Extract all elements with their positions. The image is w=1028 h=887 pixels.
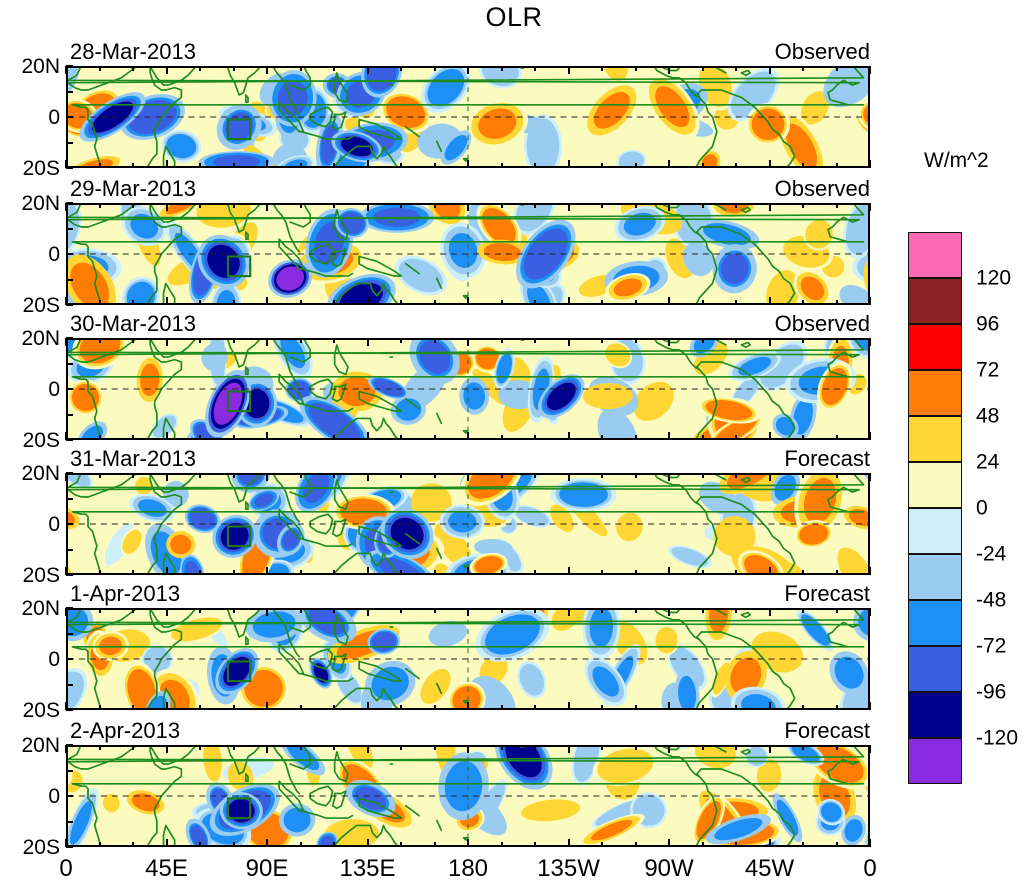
x-tick bbox=[300, 473, 302, 478]
x-tick bbox=[166, 839, 168, 847]
y-axis-label-2-1: 20N bbox=[2, 193, 60, 214]
x-tick bbox=[266, 66, 268, 74]
x-tick bbox=[668, 66, 670, 74]
map-panel-5[interactable] bbox=[66, 608, 870, 710]
y-tick bbox=[66, 439, 73, 441]
x-tick bbox=[635, 163, 637, 168]
x-tick bbox=[668, 203, 670, 211]
x-tick bbox=[635, 338, 637, 343]
x-tick bbox=[534, 338, 536, 343]
olr-anomaly-map bbox=[68, 747, 868, 845]
x-tick bbox=[99, 163, 101, 168]
x-tick bbox=[467, 203, 469, 211]
x-tick bbox=[802, 300, 804, 305]
x-tick bbox=[434, 473, 436, 478]
x-tick bbox=[467, 297, 469, 305]
x-tick bbox=[199, 66, 201, 71]
x-tick bbox=[769, 66, 771, 74]
x-tick bbox=[467, 66, 469, 74]
x-tick bbox=[836, 570, 838, 575]
x-tick bbox=[266, 702, 268, 710]
x-tick bbox=[166, 473, 168, 481]
x-tick bbox=[132, 473, 134, 478]
panel-date-label-6: 2-Apr-2013 bbox=[70, 720, 180, 742]
x-tick bbox=[132, 435, 134, 440]
y-tick bbox=[66, 337, 73, 339]
y-tick bbox=[66, 304, 73, 306]
x-tick bbox=[601, 745, 603, 750]
y-tick bbox=[66, 228, 73, 230]
x-tick bbox=[601, 300, 603, 305]
x-tick bbox=[601, 435, 603, 440]
map-panel-3[interactable] bbox=[66, 338, 870, 440]
x-tick bbox=[266, 432, 268, 440]
x-tick bbox=[132, 705, 134, 710]
x-tick bbox=[434, 570, 436, 575]
x-tick bbox=[367, 203, 369, 211]
x-tick bbox=[534, 570, 536, 575]
y-tick bbox=[66, 65, 73, 67]
x-tick bbox=[702, 842, 704, 847]
x-tick bbox=[166, 567, 168, 575]
olr-figure: OLR 045E90E135E180135W90W45W0 W/m^2 1209… bbox=[0, 0, 1028, 887]
x-axis-label-4: 135E bbox=[339, 856, 395, 882]
x-tick bbox=[266, 160, 268, 168]
panel-date-label-3: 30-Mar-2013 bbox=[70, 313, 196, 335]
x-tick bbox=[199, 338, 201, 343]
x-tick bbox=[869, 432, 871, 440]
y-axis-label-4-3: 20S bbox=[2, 565, 60, 586]
x-tick bbox=[166, 338, 168, 346]
x-tick bbox=[467, 839, 469, 847]
x-tick bbox=[333, 705, 335, 710]
x-tick bbox=[400, 203, 402, 208]
colorbar[interactable] bbox=[908, 232, 962, 784]
x-tick bbox=[132, 338, 134, 343]
x-tick bbox=[434, 163, 436, 168]
colorbar-band-9 bbox=[908, 600, 962, 646]
x-tick bbox=[769, 297, 771, 305]
x-tick bbox=[434, 705, 436, 710]
x-tick bbox=[568, 338, 570, 346]
olr-anomaly-map bbox=[68, 610, 868, 708]
x-tick bbox=[333, 300, 335, 305]
panel-status-label-3: Observed bbox=[775, 313, 870, 335]
x-tick bbox=[99, 705, 101, 710]
x-tick bbox=[802, 435, 804, 440]
panel-status-label-5: Forecast bbox=[784, 583, 870, 605]
x-tick bbox=[434, 842, 436, 847]
panel-frame bbox=[66, 66, 870, 168]
x-tick bbox=[501, 570, 503, 575]
x-tick bbox=[333, 473, 335, 478]
colorbar-band-11 bbox=[908, 692, 962, 738]
olr-anomaly-map bbox=[68, 475, 868, 573]
colorbar-band-10 bbox=[908, 646, 962, 692]
x-tick bbox=[199, 203, 201, 208]
x-tick bbox=[869, 745, 871, 753]
x-tick bbox=[99, 203, 101, 208]
x-tick bbox=[233, 608, 235, 613]
x-tick bbox=[367, 160, 369, 168]
x-tick bbox=[400, 300, 402, 305]
x-tick bbox=[333, 842, 335, 847]
x-tick bbox=[668, 567, 670, 575]
y-axis-label-3-3: 20S bbox=[2, 430, 60, 451]
y-axis-label-1-2: 0 bbox=[2, 107, 60, 128]
x-axis-label-6: 135W bbox=[537, 856, 600, 882]
x-tick bbox=[199, 570, 201, 575]
x-tick bbox=[300, 338, 302, 343]
x-tick bbox=[802, 66, 804, 71]
x-tick bbox=[300, 203, 302, 208]
x-tick bbox=[400, 163, 402, 168]
x-tick bbox=[233, 842, 235, 847]
x-tick bbox=[568, 66, 570, 74]
y-axis-label-5-2: 0 bbox=[2, 649, 60, 670]
x-tick bbox=[769, 473, 771, 481]
x-tick bbox=[434, 203, 436, 208]
map-panel-4[interactable] bbox=[66, 473, 870, 575]
x-tick bbox=[836, 473, 838, 478]
x-tick bbox=[501, 608, 503, 613]
x-tick bbox=[702, 435, 704, 440]
y-tick bbox=[66, 658, 73, 660]
colorbar-band-4 bbox=[908, 370, 962, 416]
panel-frame bbox=[66, 608, 870, 710]
y-tick bbox=[66, 523, 73, 525]
x-tick bbox=[869, 66, 871, 74]
panel-date-label-1: 28-Mar-2013 bbox=[70, 41, 196, 63]
x-tick bbox=[434, 745, 436, 750]
panel-frame bbox=[66, 745, 870, 847]
x-tick bbox=[166, 702, 168, 710]
x-tick bbox=[601, 473, 603, 478]
y-axis-label-1-1: 20N bbox=[2, 56, 60, 77]
x-tick bbox=[702, 300, 704, 305]
x-tick bbox=[132, 203, 134, 208]
panel-frame bbox=[66, 203, 870, 305]
x-tick bbox=[702, 705, 704, 710]
x-tick bbox=[333, 66, 335, 71]
x-tick bbox=[333, 608, 335, 613]
x-tick bbox=[266, 839, 268, 847]
x-tick bbox=[300, 570, 302, 575]
x-tick bbox=[400, 66, 402, 71]
y-axis-label-3-1: 20N bbox=[2, 328, 60, 349]
x-tick bbox=[568, 432, 570, 440]
x-tick bbox=[199, 842, 201, 847]
x-tick bbox=[534, 745, 536, 750]
x-tick bbox=[266, 608, 268, 616]
x-tick bbox=[333, 745, 335, 750]
x-tick bbox=[467, 745, 469, 753]
y-axis-label-6-2: 0 bbox=[2, 786, 60, 807]
y-axis-label-2-3: 20S bbox=[2, 295, 60, 316]
x-tick bbox=[501, 705, 503, 710]
colorbar-band-6 bbox=[908, 462, 962, 508]
colorbar-tick-1: 120 bbox=[976, 268, 1011, 289]
colorbar-band-7 bbox=[908, 508, 962, 554]
x-tick bbox=[869, 338, 871, 346]
x-tick bbox=[99, 608, 101, 613]
x-tick bbox=[367, 432, 369, 440]
x-tick bbox=[802, 608, 804, 613]
x-tick bbox=[400, 473, 402, 478]
x-tick bbox=[836, 300, 838, 305]
x-tick bbox=[568, 745, 570, 753]
colorbar-tick-3: 72 bbox=[976, 360, 999, 381]
x-tick bbox=[467, 473, 469, 481]
x-tick bbox=[601, 570, 603, 575]
colorbar-tick-8: -48 bbox=[976, 590, 1006, 611]
y-tick bbox=[66, 279, 73, 281]
x-tick bbox=[333, 203, 335, 208]
x-tick bbox=[199, 435, 201, 440]
y-tick bbox=[66, 744, 73, 746]
x-tick bbox=[601, 203, 603, 208]
x-tick bbox=[233, 300, 235, 305]
y-tick bbox=[66, 116, 73, 118]
y-tick bbox=[66, 633, 73, 635]
x-axis-label-5: 180 bbox=[448, 856, 488, 882]
x-tick bbox=[132, 745, 134, 750]
x-tick bbox=[333, 338, 335, 343]
x-tick bbox=[333, 435, 335, 440]
x-tick bbox=[735, 338, 737, 343]
x-tick bbox=[501, 745, 503, 750]
y-axis-label-5-1: 20N bbox=[2, 598, 60, 619]
x-tick bbox=[802, 705, 804, 710]
y-tick bbox=[66, 821, 73, 823]
x-tick bbox=[769, 702, 771, 710]
x-tick bbox=[467, 608, 469, 616]
x-tick bbox=[266, 338, 268, 346]
panel-date-label-5: 1-Apr-2013 bbox=[70, 583, 180, 605]
x-tick bbox=[534, 473, 536, 478]
x-tick bbox=[367, 297, 369, 305]
x-tick bbox=[568, 608, 570, 616]
x-tick bbox=[132, 608, 134, 613]
x-tick bbox=[668, 432, 670, 440]
x-tick bbox=[467, 567, 469, 575]
panel-date-label-4: 31-Mar-2013 bbox=[70, 448, 196, 470]
x-tick bbox=[300, 608, 302, 613]
x-tick bbox=[300, 163, 302, 168]
x-tick bbox=[836, 66, 838, 71]
x-tick bbox=[601, 66, 603, 71]
x-tick bbox=[735, 745, 737, 750]
x-tick bbox=[601, 163, 603, 168]
y-axis-label-4-1: 20N bbox=[2, 463, 60, 484]
x-tick bbox=[266, 297, 268, 305]
colorbar-tick-6: 0 bbox=[976, 498, 988, 519]
x-tick bbox=[99, 338, 101, 343]
x-tick bbox=[668, 745, 670, 753]
x-tick bbox=[300, 435, 302, 440]
x-tick bbox=[869, 297, 871, 305]
x-tick bbox=[467, 338, 469, 346]
y-axis-label-2-2: 0 bbox=[2, 244, 60, 265]
x-tick bbox=[166, 432, 168, 440]
x-tick bbox=[836, 203, 838, 208]
x-tick bbox=[735, 163, 737, 168]
panel-frame bbox=[66, 338, 870, 440]
x-tick bbox=[501, 338, 503, 343]
x-tick bbox=[132, 66, 134, 71]
y-tick bbox=[66, 549, 73, 551]
x-tick bbox=[367, 702, 369, 710]
colorbar-tick-2: 96 bbox=[976, 314, 999, 335]
x-tick bbox=[266, 567, 268, 575]
x-tick bbox=[668, 338, 670, 346]
panel-status-label-4: Forecast bbox=[784, 448, 870, 470]
map-panel-2[interactable] bbox=[66, 203, 870, 305]
x-tick bbox=[501, 842, 503, 847]
x-tick bbox=[869, 567, 871, 575]
y-tick bbox=[66, 142, 73, 144]
x-tick bbox=[367, 473, 369, 481]
olr-anomaly-map bbox=[68, 205, 868, 303]
x-tick bbox=[166, 66, 168, 74]
panel-date-label-2: 29-Mar-2013 bbox=[70, 178, 196, 200]
x-tick bbox=[99, 745, 101, 750]
x-tick bbox=[233, 435, 235, 440]
colorbar-units-label: W/m^2 bbox=[924, 150, 989, 171]
x-tick bbox=[233, 473, 235, 478]
x-tick bbox=[400, 570, 402, 575]
x-tick bbox=[668, 608, 670, 616]
x-tick bbox=[635, 203, 637, 208]
x-tick bbox=[568, 473, 570, 481]
x-tick bbox=[702, 473, 704, 478]
x-tick bbox=[367, 567, 369, 575]
x-tick bbox=[501, 163, 503, 168]
x-tick bbox=[65, 66, 67, 74]
x-tick bbox=[534, 842, 536, 847]
x-tick bbox=[735, 608, 737, 613]
x-tick bbox=[501, 203, 503, 208]
x-tick bbox=[836, 608, 838, 613]
panel-frame bbox=[66, 473, 870, 575]
x-tick bbox=[635, 608, 637, 613]
x-tick bbox=[802, 842, 804, 847]
x-tick bbox=[99, 842, 101, 847]
x-tick bbox=[501, 66, 503, 71]
x-tick bbox=[869, 608, 871, 616]
x-tick bbox=[166, 745, 168, 753]
x-tick bbox=[802, 473, 804, 478]
x-tick bbox=[534, 705, 536, 710]
x-tick bbox=[702, 163, 704, 168]
x-tick bbox=[300, 300, 302, 305]
x-axis-label-3: 90E bbox=[246, 856, 289, 882]
y-tick bbox=[66, 388, 73, 390]
x-tick bbox=[266, 473, 268, 481]
x-tick bbox=[233, 705, 235, 710]
y-axis-label-6-3: 20S bbox=[2, 837, 60, 858]
x-tick bbox=[501, 473, 503, 478]
y-tick bbox=[66, 684, 73, 686]
x-tick bbox=[400, 705, 402, 710]
x-tick bbox=[802, 745, 804, 750]
x-tick bbox=[769, 338, 771, 346]
x-tick bbox=[635, 66, 637, 71]
panel-status-label-2: Observed bbox=[775, 178, 870, 200]
x-tick bbox=[635, 705, 637, 710]
x-tick bbox=[568, 839, 570, 847]
y-tick bbox=[66, 498, 73, 500]
x-axis-label-8: 45W bbox=[745, 856, 794, 882]
olr-anomaly-map bbox=[68, 68, 868, 166]
x-tick bbox=[635, 842, 637, 847]
x-tick bbox=[233, 338, 235, 343]
x-tick bbox=[501, 300, 503, 305]
x-tick bbox=[769, 432, 771, 440]
x-tick bbox=[735, 66, 737, 71]
x-tick bbox=[266, 745, 268, 753]
x-tick bbox=[836, 435, 838, 440]
x-tick bbox=[601, 608, 603, 613]
x-tick bbox=[735, 473, 737, 478]
y-axis-label-4-2: 0 bbox=[2, 514, 60, 535]
x-tick bbox=[467, 160, 469, 168]
y-axis-label-1-3: 20S bbox=[2, 158, 60, 179]
x-tick bbox=[735, 842, 737, 847]
x-tick bbox=[233, 745, 235, 750]
x-tick bbox=[702, 203, 704, 208]
x-tick bbox=[568, 297, 570, 305]
x-tick bbox=[300, 66, 302, 71]
y-axis-label-5-3: 20S bbox=[2, 700, 60, 721]
y-tick bbox=[66, 91, 73, 93]
x-tick bbox=[367, 66, 369, 74]
x-tick bbox=[199, 745, 201, 750]
x-tick bbox=[534, 300, 536, 305]
x-tick bbox=[769, 745, 771, 753]
x-tick bbox=[869, 203, 871, 211]
map-panel-6[interactable] bbox=[66, 745, 870, 847]
map-panel-1[interactable] bbox=[66, 66, 870, 168]
x-axis-label-2: 45E bbox=[145, 856, 188, 882]
x-tick bbox=[65, 338, 67, 346]
x-tick bbox=[702, 66, 704, 71]
x-tick bbox=[467, 432, 469, 440]
x-tick bbox=[635, 435, 637, 440]
x-axis-labels: 045E90E135E180135W90W45W0 bbox=[0, 852, 1028, 886]
x-tick bbox=[132, 300, 134, 305]
x-tick bbox=[367, 608, 369, 616]
x-tick bbox=[702, 570, 704, 575]
colorbar-tick-5: 24 bbox=[976, 452, 999, 473]
x-tick bbox=[199, 300, 201, 305]
y-axis-label-3-2: 0 bbox=[2, 379, 60, 400]
y-tick bbox=[66, 202, 73, 204]
x-tick bbox=[534, 203, 536, 208]
y-tick bbox=[66, 472, 73, 474]
x-tick bbox=[869, 473, 871, 481]
y-axis-label-6-1: 20N bbox=[2, 735, 60, 756]
x-tick bbox=[400, 842, 402, 847]
y-tick bbox=[66, 770, 73, 772]
x-axis-label-9: 0 bbox=[863, 856, 876, 882]
x-tick bbox=[65, 745, 67, 753]
x-tick bbox=[869, 702, 871, 710]
y-tick bbox=[66, 607, 73, 609]
olr-anomaly-map bbox=[68, 340, 868, 438]
y-tick bbox=[66, 574, 73, 576]
x-tick bbox=[132, 163, 134, 168]
